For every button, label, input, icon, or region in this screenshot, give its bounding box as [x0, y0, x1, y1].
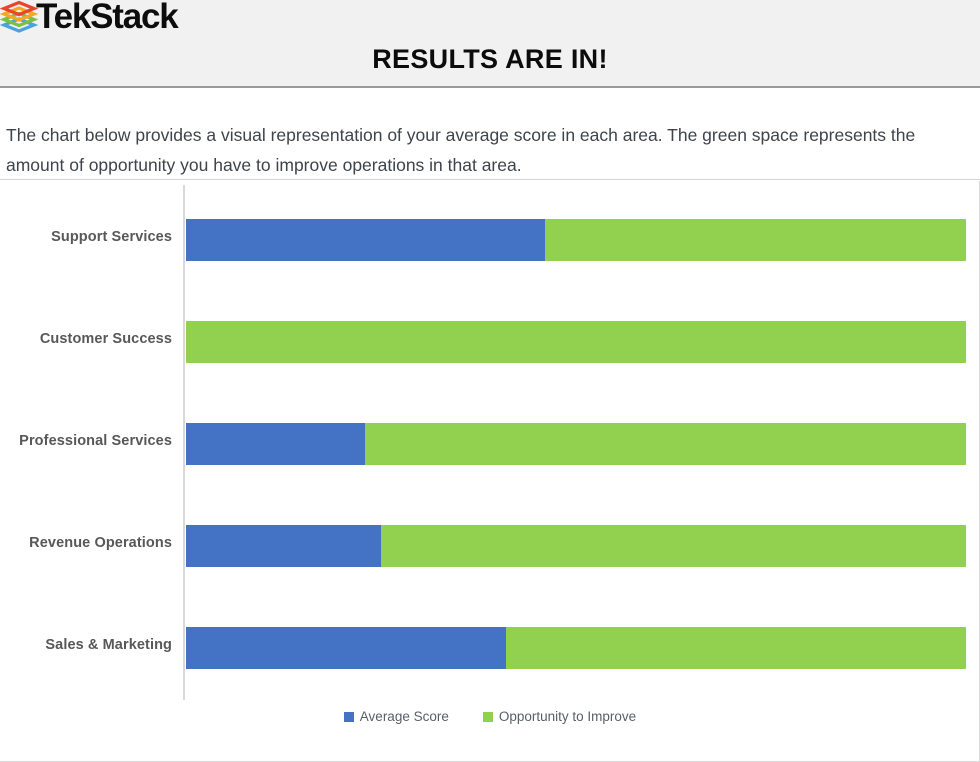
- legend-label: Opportunity to Improve: [499, 709, 636, 724]
- bar-segment-opportunity[interactable]: [545, 219, 966, 261]
- legend-swatch-icon: [344, 712, 354, 722]
- chart-legend: Average ScoreOpportunity to Improve: [0, 709, 980, 724]
- brand-logo[interactable]: TekStack: [0, 0, 178, 34]
- bar-segment-opportunity[interactable]: [506, 627, 966, 669]
- chart-category-label: Customer Success: [0, 331, 172, 347]
- chart-row: Customer Success: [0, 301, 980, 403]
- chart-bar-stack[interactable]: [186, 423, 966, 465]
- bar-segment-average-score[interactable]: [186, 219, 545, 261]
- legend-swatch-icon: [483, 712, 493, 722]
- bar-segment-average-score[interactable]: [186, 423, 365, 465]
- chart-bar-stack[interactable]: [186, 627, 966, 669]
- intro-paragraph: The chart below provides a visual repres…: [6, 120, 972, 180]
- chart-category-label: Sales & Marketing: [0, 637, 172, 653]
- app-header: TekStack RESULTS ARE IN!: [0, 0, 980, 88]
- chart-category-label: Professional Services: [0, 433, 172, 449]
- stacked-layers-logo-icon: [0, 0, 42, 34]
- legend-item[interactable]: Opportunity to Improve: [483, 709, 636, 724]
- intro-section: The chart below provides a visual repres…: [0, 88, 980, 180]
- chart-row: Professional Services: [0, 403, 980, 505]
- bar-segment-opportunity[interactable]: [365, 423, 966, 465]
- chart-category-label: Revenue Operations: [0, 535, 172, 551]
- legend-item[interactable]: Average Score: [344, 709, 449, 724]
- chart-category-label: Support Services: [0, 229, 172, 245]
- page-title: RESULTS ARE IN!: [0, 44, 980, 75]
- legend-label: Average Score: [360, 709, 449, 724]
- chart-plot-area: Support ServicesCustomer SuccessProfessi…: [0, 181, 980, 705]
- brand-name: TekStack: [36, 0, 178, 34]
- chart-row: Support Services: [0, 199, 980, 301]
- chart-bar-stack[interactable]: [186, 219, 966, 261]
- bar-segment-opportunity[interactable]: [381, 525, 966, 567]
- chart-bar-rows: Support ServicesCustomer SuccessProfessi…: [0, 181, 980, 705]
- bar-segment-average-score[interactable]: [186, 525, 381, 567]
- chart-row: Sales & Marketing: [0, 607, 980, 709]
- chart-bar-stack[interactable]: [186, 525, 966, 567]
- results-chart: Support ServicesCustomer SuccessProfessi…: [0, 181, 980, 762]
- bar-segment-average-score[interactable]: [186, 627, 506, 669]
- bar-segment-opportunity[interactable]: [186, 321, 966, 363]
- chart-row: Revenue Operations: [0, 505, 980, 607]
- chart-bar-stack[interactable]: [186, 321, 966, 363]
